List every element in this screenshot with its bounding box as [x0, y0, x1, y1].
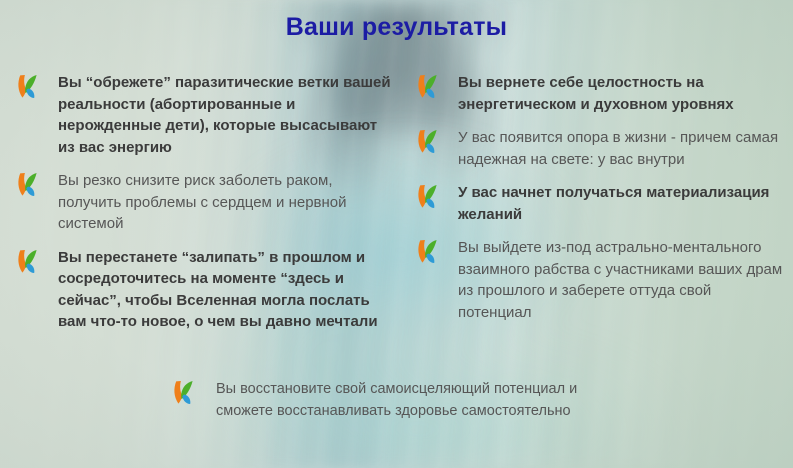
- slide-title: Ваши результаты: [0, 12, 793, 42]
- list-item-text: Вы вернете себе целостность на энергетич…: [458, 72, 784, 115]
- butterfly-leaf-logo-icon: [14, 171, 44, 199]
- list-item: Вы выйдете из-под астрально-ментального …: [414, 237, 784, 323]
- right-bullet-column: Вы вернете себе целостность на энергетич…: [414, 72, 784, 335]
- list-item-text: Вы “обрежете” паразитические ветки вашей…: [58, 72, 396, 158]
- list-item-text: У вас начнет получаться материализация ж…: [458, 182, 784, 225]
- butterfly-leaf-logo-icon: [414, 183, 444, 211]
- list-item-text: Вы выйдете из-под астрально-ментального …: [458, 237, 784, 323]
- butterfly-leaf-logo-icon: [414, 73, 444, 101]
- list-item: Вы вернете себе целостность на энергетич…: [414, 72, 784, 115]
- list-item: У вас начнет получаться материализация ж…: [414, 182, 784, 225]
- list-item: Вы резко снизите риск заболеть раком, по…: [14, 170, 396, 235]
- list-item: У вас появится опора в жизни - причем са…: [414, 127, 784, 170]
- list-item: Вы “обрежете” паразитические ветки вашей…: [14, 72, 396, 158]
- list-item-text: Вы перестанете “залипать” в прошлом и со…: [58, 247, 396, 333]
- list-item: Вы восстановите свой самоисцеляющий поте…: [168, 378, 638, 422]
- bottom-bullet-row: Вы восстановите свой самоисцеляющий поте…: [168, 378, 638, 422]
- list-item-text: У вас появится опора в жизни - причем са…: [458, 127, 784, 170]
- list-item: Вы перестанете “залипать” в прошлом и со…: [14, 247, 396, 333]
- butterfly-leaf-logo-icon: [14, 248, 44, 276]
- list-item-text: Вы восстановите свой самоисцеляющий поте…: [216, 378, 638, 422]
- butterfly-leaf-logo-icon: [414, 238, 444, 266]
- butterfly-leaf-logo-icon: [170, 379, 200, 407]
- butterfly-leaf-logo-icon: [414, 128, 444, 156]
- butterfly-leaf-logo-icon: [14, 73, 44, 101]
- list-item-text: Вы резко снизите риск заболеть раком, по…: [58, 170, 396, 235]
- left-bullet-column: Вы “обрежете” паразитические ветки вашей…: [14, 72, 396, 345]
- presentation-slide: Ваши результаты Вы “обрежете” паразитиче…: [0, 0, 793, 468]
